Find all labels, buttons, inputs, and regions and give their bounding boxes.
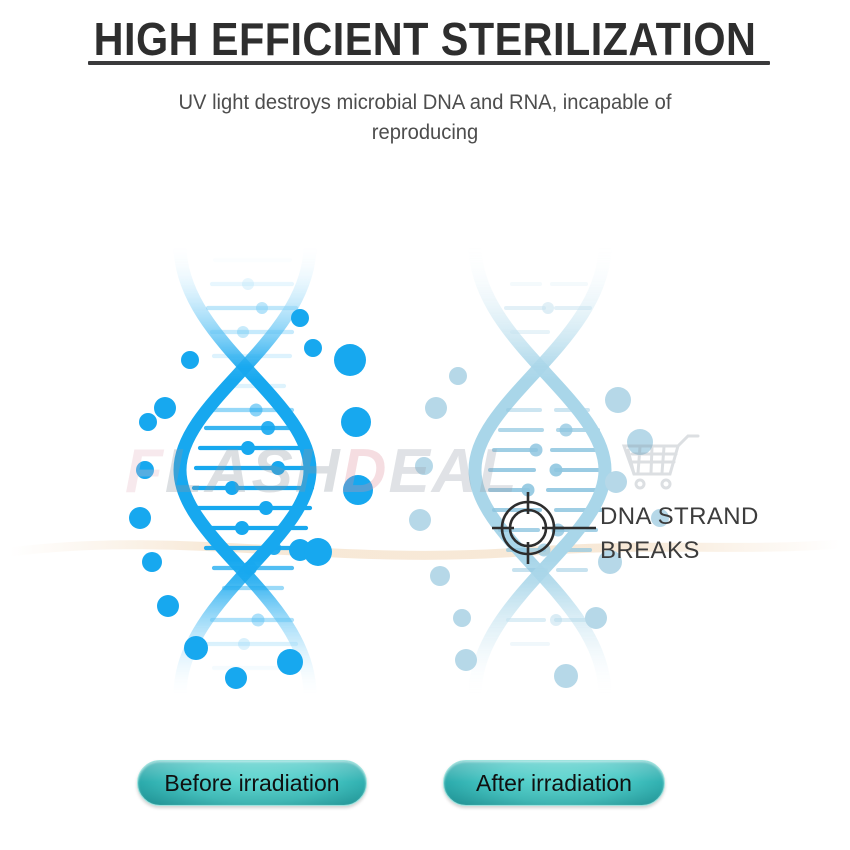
page-subtitle: UV light destroys microbial DNA and RNA,… bbox=[123, 88, 728, 148]
intact-dna-double-helix bbox=[180, 245, 312, 695]
before-irradiation-button[interactable]: Before irradiation bbox=[137, 760, 367, 806]
title-underline-rule bbox=[88, 61, 770, 65]
sterilization-infographic: HIGH EFFICIENT STERILIZATION UV light de… bbox=[0, 0, 850, 850]
dna-strand-breaks-callout: DNA STRAND BREAKS bbox=[600, 500, 800, 568]
dna-illustration bbox=[0, 200, 850, 740]
after-irradiation-button[interactable]: After irradiation bbox=[443, 760, 665, 806]
damaged-dna-double-helix bbox=[475, 245, 608, 695]
callout-line-1: DNA STRAND bbox=[600, 500, 800, 534]
callout-line-2: BREAKS bbox=[600, 534, 800, 568]
page-title: HIGH EFFICIENT STERILIZATION bbox=[43, 16, 808, 62]
